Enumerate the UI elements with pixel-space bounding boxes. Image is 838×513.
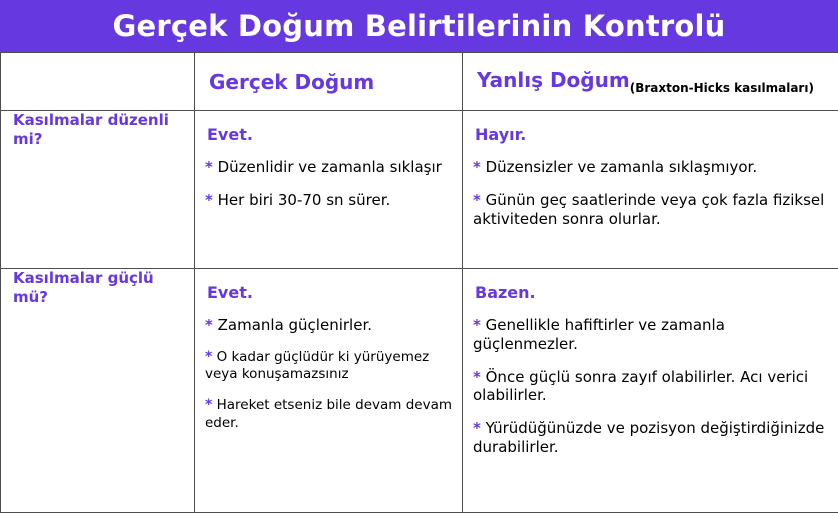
cell-row1-true-labor: Evet. * Düzenlidir ve zamanla sıklaşır *… [195, 111, 463, 269]
bullet-star-icon: * [473, 191, 481, 209]
header-false-labor-subtitle: (Braxton-Hicks kasılmaları) [630, 81, 814, 95]
bullet-item: * Genellikle hafiftirler ve zamanla güçl… [473, 316, 828, 354]
row-label-contractions-regular: Kasılmalar düzenli mi? [1, 111, 195, 269]
cell-body: Evet. * Zamanla güçlenirler. * O kadar g… [195, 269, 462, 442]
cell-row1-false-labor: Hayır. * Düzensizler ve zamanla sıklaşmı… [463, 111, 838, 269]
table-row: Kasılmalar güçlü mü? Evet. * Zamanla güç… [1, 268, 838, 512]
bullet-item: * O kadar güçlüdür ki yürüyemez veya kon… [205, 349, 452, 383]
bullet-item: * Zamanla güçlenirler. [205, 316, 452, 335]
bullet-star-icon: * [205, 191, 213, 209]
table-row: Kasılmalar düzenli mi? Evet. * Düzenlidi… [1, 111, 838, 269]
bullet-item: * Düzensizler ve zamanla sıklaşmıyor. [473, 158, 828, 177]
cell-row2-true-labor: Evet. * Zamanla güçlenirler. * O kadar g… [195, 268, 463, 512]
bullet-star-icon: * [473, 316, 481, 334]
bullet-star-icon: * [205, 349, 212, 365]
bullet-item: * Yürüdüğünüzde ve pozisyon değiştirdiği… [473, 419, 828, 457]
bullet-star-icon: * [205, 158, 213, 176]
bullet-item: * Düzenlidir ve zamanla sıklaşır [205, 158, 452, 177]
answer-text: Hayır. [475, 125, 828, 144]
bullet-item: * Önce güçlü sonra zayıf olabilirler. Ac… [473, 368, 828, 406]
header-true-labor-title: Gerçek Doğum [209, 70, 374, 94]
cell-body: Evet. * Düzenlidir ve zamanla sıklaşır *… [195, 111, 462, 220]
bullet-star-icon: * [205, 397, 212, 413]
bullet-star-icon: * [205, 316, 213, 334]
bullet-star-icon: * [473, 368, 481, 386]
row-label-text: Kasılmalar düzenli mi? [1, 111, 194, 149]
header-cell-false-labor: Yanlış Doğum(Braxton-Hicks kasılmaları) [463, 53, 838, 111]
header-false-labor-title: Yanlış Doğum [477, 68, 630, 92]
row-label-contractions-strong: Kasılmalar güçlü mü? [1, 268, 195, 512]
comparison-table-page: Gerçek Doğum Belirtilerinin Kontrolü Ger… [0, 0, 838, 513]
bullet-star-icon: * [473, 158, 481, 176]
answer-text: Evet. [207, 125, 452, 144]
labor-comparison-table: Gerçek Doğum Yanlış Doğum(Braxton-Hicks … [0, 52, 838, 513]
header-cell-true-labor: Gerçek Doğum [195, 53, 463, 111]
answer-text: Bazen. [475, 283, 828, 302]
header-true-labor-inner: Gerçek Doğum [195, 71, 462, 93]
answer-text: Evet. [207, 283, 452, 302]
cell-row2-false-labor: Bazen. * Genellikle hafiftirler ve zaman… [463, 268, 838, 512]
bullet-item: * Günün geç saatlerinde veya çok fazla f… [473, 191, 828, 229]
bullet-item: * Hareket etseniz bile devam devam eder. [205, 397, 452, 431]
page-title: Gerçek Doğum Belirtilerinin Kontrolü [112, 12, 725, 41]
cell-body: Hayır. * Düzensizler ve zamanla sıklaşmı… [463, 111, 838, 238]
row-label-text: Kasılmalar güçlü mü? [1, 269, 194, 307]
cell-body: Bazen. * Genellikle hafiftirler ve zaman… [463, 269, 838, 467]
bullet-item: * Her biri 30-70 sn sürer. [205, 191, 452, 210]
header-cell-empty [1, 53, 195, 111]
bullet-star-icon: * [473, 419, 481, 437]
title-bar: Gerçek Doğum Belirtilerinin Kontrolü [0, 0, 838, 52]
header-false-labor-inner: Yanlış Doğum(Braxton-Hicks kasılmaları) [463, 69, 838, 94]
table-header-row: Gerçek Doğum Yanlış Doğum(Braxton-Hicks … [1, 53, 838, 111]
